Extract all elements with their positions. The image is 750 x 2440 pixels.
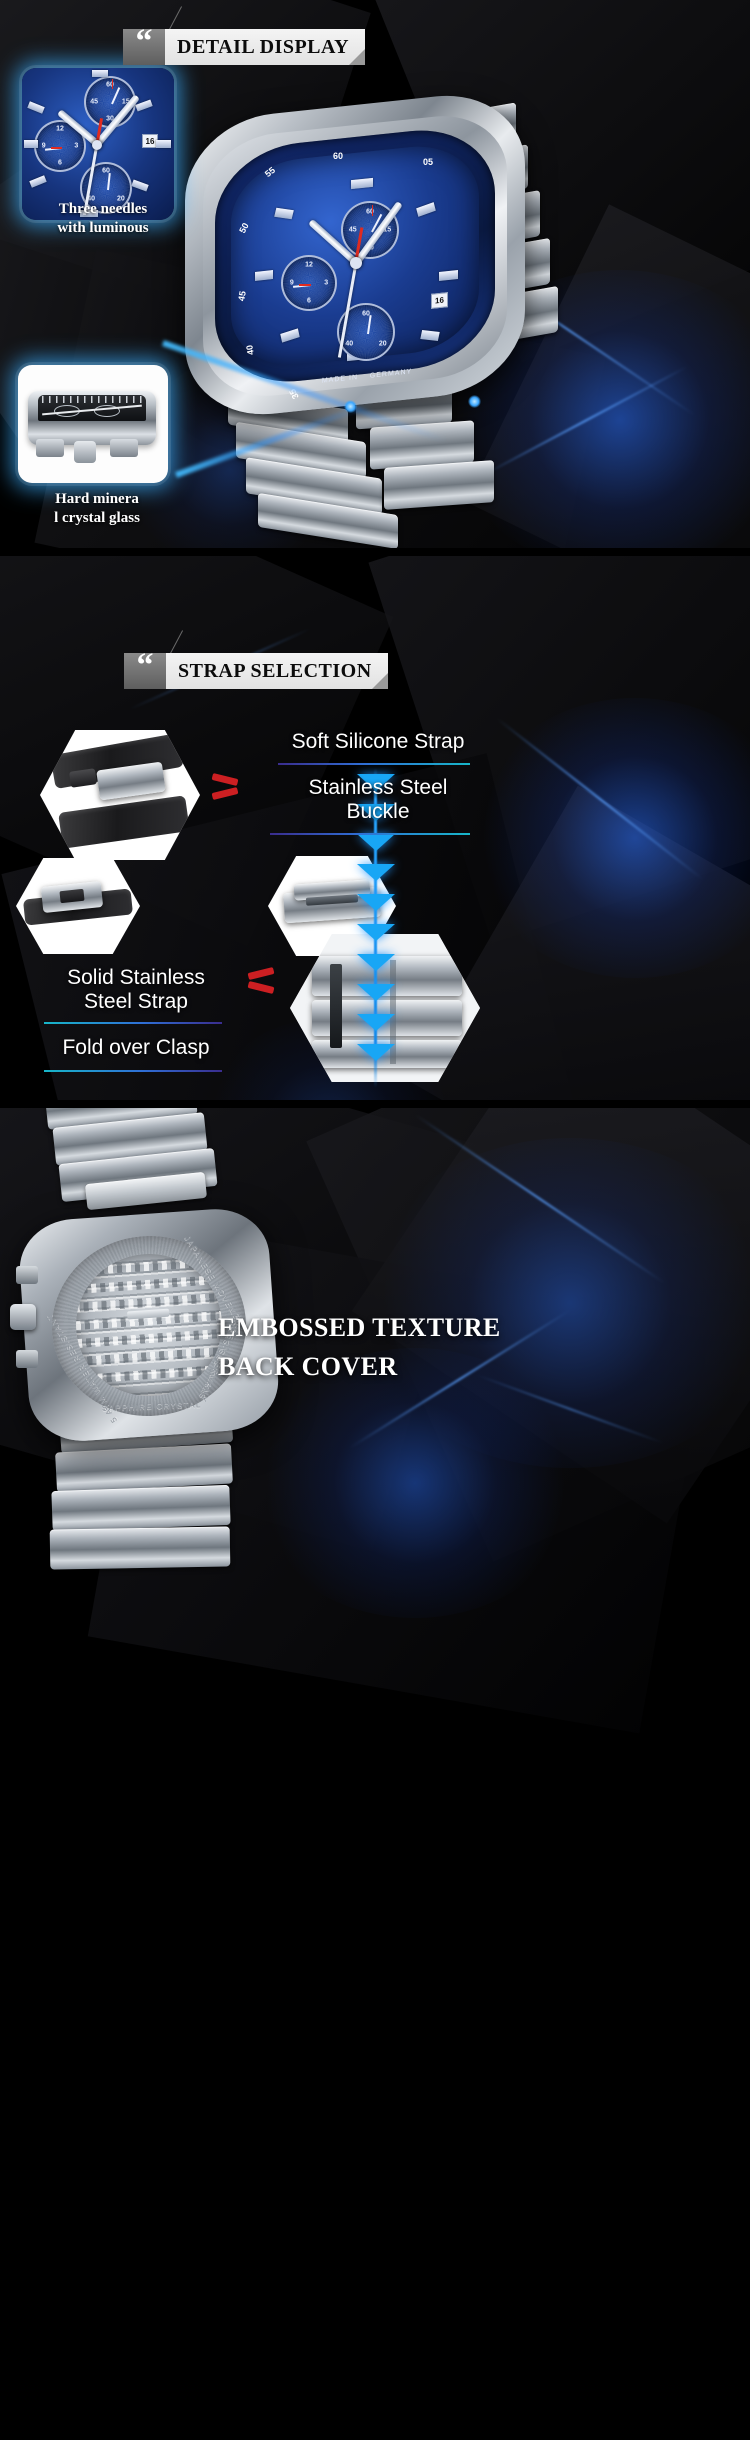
beam-endpoint-crystal [344,400,357,413]
section-title-strap-selection: “ STRAP SELECTION [124,653,388,689]
caption-line-2: l crystal glass [54,510,140,526]
section-divider-2 [0,1100,750,1108]
underline-clasp [44,1070,222,1072]
underline-steel-strap [44,1022,222,1024]
section-detail-display: 60 05 55 50 45 40 35 60 45 15 30 12 9 3 … [0,0,750,548]
section-divider-1 [0,548,750,556]
label-line-1: Stainless Steel [309,776,448,799]
section-title-detail-display: “ DETAIL DISPLAY [123,29,365,65]
caption-line-1: Hard minera [55,491,139,507]
label-fold-over-clasp: Fold over Clasp [36,1036,236,1060]
caption-crystal-glass: Hard minera l crystal glass [12,490,182,528]
caption-line-1: Three needles [59,201,147,217]
title-plate: DETAIL DISPLAY [165,29,365,65]
date-window: 16 [431,292,448,309]
heading-line-1: EMBOSSED TEXTURE [218,1308,718,1347]
label-solid-stainless-steel-strap: Solid Stainless Steel Strap [36,966,236,1015]
title-plate: STRAP SELECTION [166,653,388,689]
underline-buckle [270,833,470,835]
bezel-number-60: 60 [333,151,343,161]
bezel-number-05: 05 [423,157,433,167]
label-line-2: Buckle [346,800,409,823]
underline-silicone [278,763,470,765]
section-back-cover: 5 ATM WATER RESISTANT JAPANESE MOVEMENT … [0,1108,750,2440]
label-soft-silicone-strap: Soft Silicone Strap [268,730,488,754]
watch-crown [10,1304,36,1330]
red-arrow-right [212,776,246,802]
bezel-number-45: 45 [236,290,248,302]
callout-three-needles: 60 45 15 30 12 9 3 6 60 40 20 16 [22,68,174,220]
quote-icon: “ [124,653,166,689]
label-stainless-steel-buckle: Stainless Steel Buckle [268,776,488,825]
caption-line-2: with luminous [57,220,148,236]
title-text: STRAP SELECTION [178,660,372,683]
product-detail-page: 60 05 55 50 45 40 35 60 45 15 30 12 9 3 … [0,0,750,2440]
title-text: DETAIL DISPLAY [177,36,349,59]
heading-embossed-texture-back-cover: EMBOSSED TEXTURE BACK COVER [218,1308,718,1386]
beam-endpoint-dial [468,395,481,408]
callout-crystal-glass [18,365,168,483]
subdial-left: 12 9 3 6 [281,255,337,311]
heading-line-2: BACK COVER [218,1347,718,1386]
label-line-1: Solid Stainless [67,966,205,989]
caption-three-needles: Three needles with luminous [18,200,188,238]
label-line-2: Steel Strap [84,990,188,1013]
red-arrow-left [248,970,282,996]
quote-icon: “ [123,29,165,65]
bezel-number-40: 40 [244,344,256,356]
section-strap-selection: “ STRAP SELECTION [0,548,750,1108]
